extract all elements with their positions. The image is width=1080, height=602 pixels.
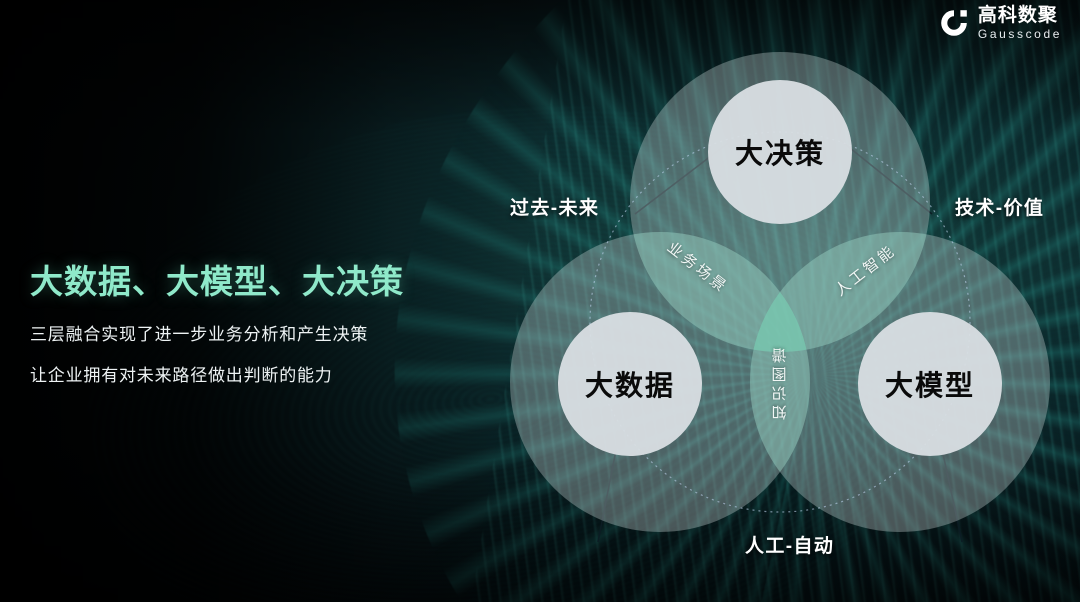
- venn-diagram: 大决策 大数据 大模型 业务场景 人工智能 知识图谱: [500, 22, 1060, 552]
- core-circle-bigdata: [558, 312, 702, 456]
- brand-name-en: Gausscode: [978, 28, 1062, 40]
- brand-name-cn: 高科数聚: [978, 6, 1062, 25]
- core-circle-bigmodel: [858, 312, 1002, 456]
- copy-block: 大数据、大模型、大决策 三层融合实现了进一步业务分析和产生决策 让企业拥有对未来…: [30, 255, 404, 386]
- subtitle-line-2: 让企业拥有对未来路径做出判断的能力: [30, 361, 404, 386]
- subtitle-line-1: 三层融合实现了进一步业务分析和产生决策: [30, 320, 404, 345]
- gausscode-g-mark-icon: [939, 8, 969, 38]
- brand-logo-text: 高科数聚 Gausscode: [978, 6, 1062, 40]
- slide-canvas: 高科数聚 Gausscode 大数据、大模型、大决策 三层融合实现了进一步业务分…: [0, 0, 1080, 602]
- brand-logo: 高科数聚 Gausscode: [939, 6, 1062, 40]
- core-circle-decision: [708, 80, 852, 224]
- page-title: 大数据、大模型、大决策: [30, 255, 404, 303]
